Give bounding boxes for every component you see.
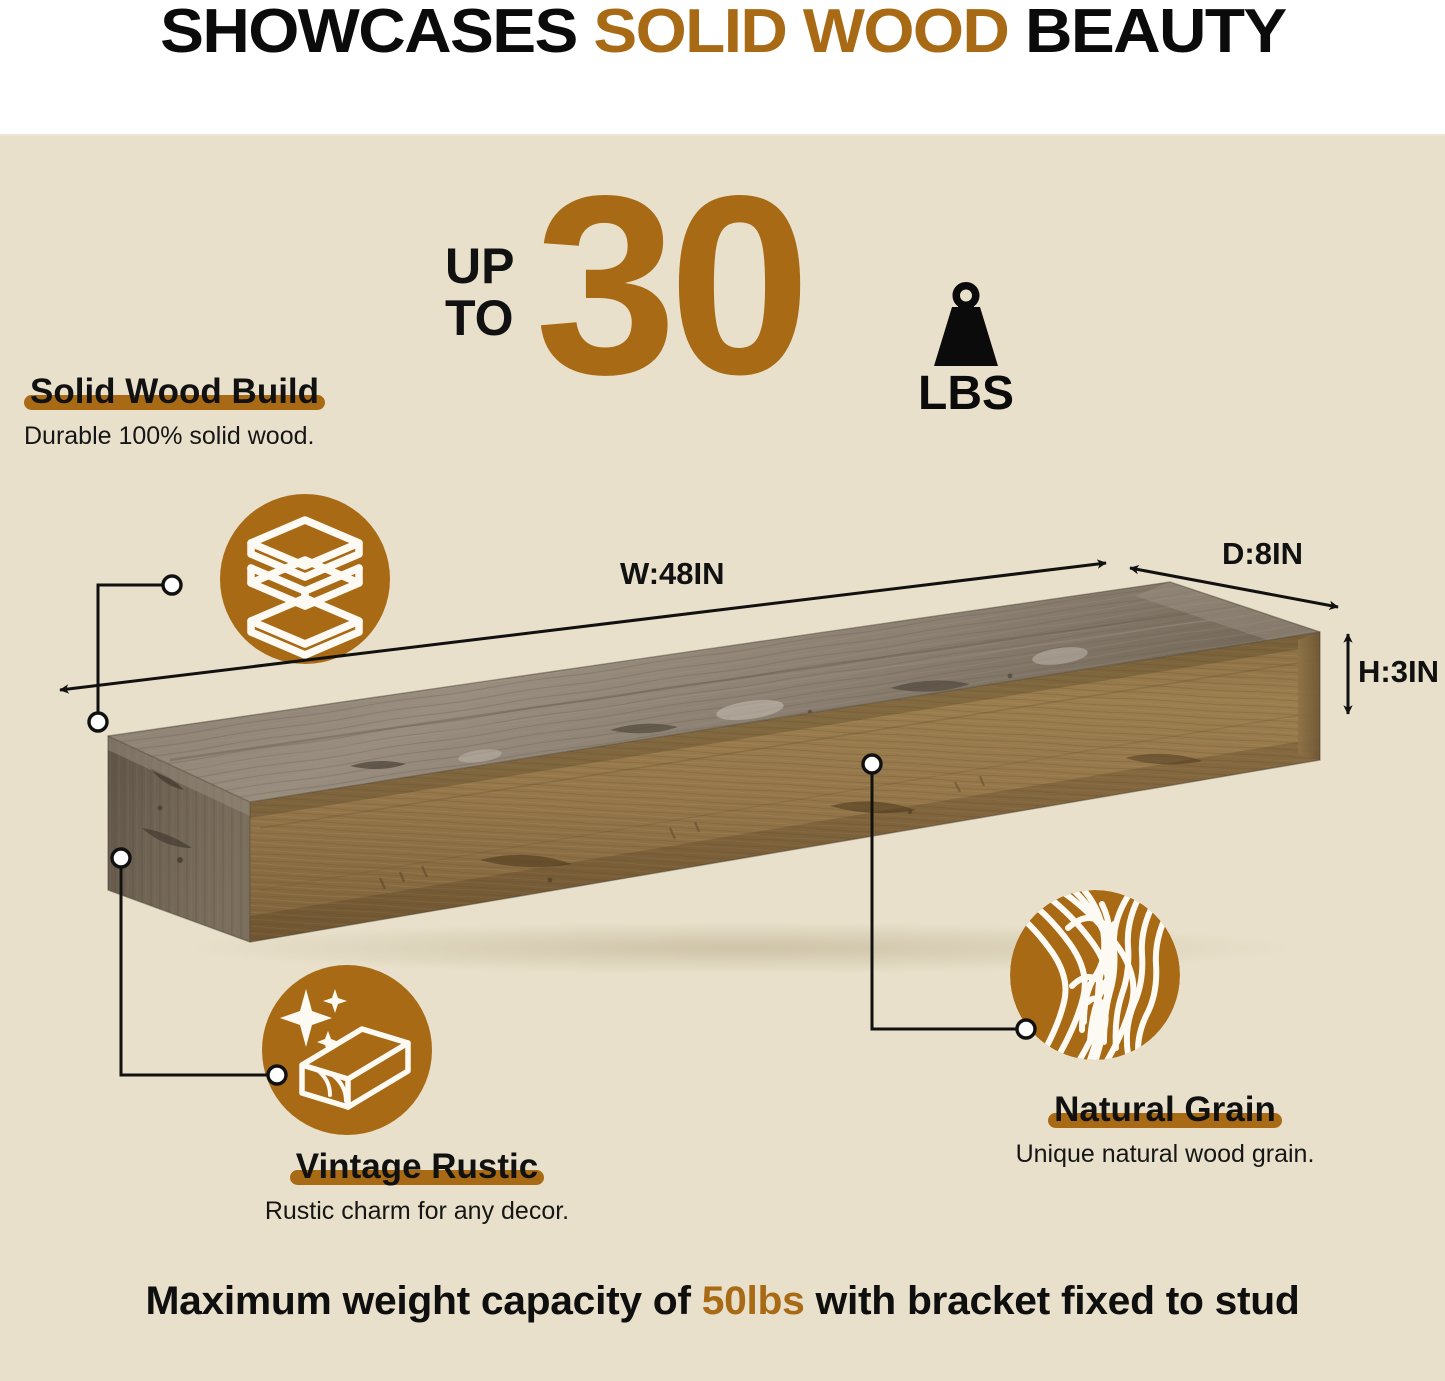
dimension-label-height: H:3IN <box>1358 655 1439 689</box>
page-title-accent: SOLID WOOD <box>593 0 1008 66</box>
callout-title-solid-wood-build: Solid Wood Build <box>24 372 325 412</box>
icon-circle-solid-wood-build <box>220 494 390 664</box>
lbs-label: LBS <box>906 370 1026 418</box>
weight-capacity-block: UP TO 30 LBS <box>430 180 1050 395</box>
page-title-part1: SHOWCASES <box>160 0 593 66</box>
icon-circle-vintage-rustic <box>262 965 432 1135</box>
infographic-root: SHOWCASES SOLID WOOD BEAUTY UP TO 30 LBS <box>0 0 1445 1381</box>
callout-text-natural-grain: Natural Grain Unique natural wood grain. <box>1000 1090 1330 1169</box>
capacity-number: 30 <box>535 158 803 413</box>
dimension-label-depth: D:8IN <box>1222 537 1303 571</box>
callout-vintage-rustic: Vintage Rustic Rustic charm for any deco… <box>262 965 432 1135</box>
footer-text: Maximum weight capacity of 50lbs with br… <box>0 1278 1445 1324</box>
callout-natural-grain: Natural Grain Unique natural wood grain. <box>1010 890 1180 1060</box>
lbs-group: LBS <box>906 280 1026 418</box>
callout-desc-natural-grain: Unique natural wood grain. <box>1000 1139 1330 1169</box>
callout-desc-solid-wood-build: Durable 100% solid wood. <box>24 421 325 451</box>
callout-title-vintage-rustic: Vintage Rustic <box>290 1147 544 1187</box>
up-to-label: UP TO <box>445 240 514 344</box>
callout-title-natural-grain: Natural Grain <box>1048 1090 1282 1130</box>
callout-desc-vintage-rustic: Rustic charm for any decor. <box>262 1196 572 1226</box>
footer-part1: Maximum weight capacity of <box>145 1279 701 1323</box>
footer: Maximum weight capacity of 50lbs with br… <box>0 1278 1445 1324</box>
callout-title-text: Solid Wood Build <box>30 372 319 411</box>
up-label: UP <box>445 238 514 294</box>
to-label: TO <box>445 292 514 344</box>
callout-title-text: Natural Grain <box>1054 1090 1276 1129</box>
page-title-part2: BEAUTY <box>1008 0 1285 66</box>
weight-icon <box>918 280 1014 368</box>
sparkle-plank-icon <box>262 965 432 1135</box>
page-title: SHOWCASES SOLID WOOD BEAUTY <box>160 0 1285 62</box>
footer-part2: with bracket fixed to stud <box>805 1279 1300 1323</box>
callout-solid-wood-build: Solid Wood Build Durable 100% solid wood… <box>24 372 325 451</box>
icon-wrap-solid-wood-build <box>220 494 390 664</box>
footer-accent: 50lbs <box>702 1279 805 1323</box>
icon-circle-natural-grain <box>1010 890 1180 1060</box>
callout-title-text: Vintage Rustic <box>296 1147 538 1186</box>
stacked-planks-icon <box>220 494 390 664</box>
callout-text-vintage-rustic: Vintage Rustic Rustic charm for any deco… <box>262 1147 572 1226</box>
dimension-label-width: W:48IN <box>620 557 725 591</box>
header-band: SHOWCASES SOLID WOOD BEAUTY <box>0 0 1445 134</box>
wood-grain-icon <box>1010 890 1180 1060</box>
